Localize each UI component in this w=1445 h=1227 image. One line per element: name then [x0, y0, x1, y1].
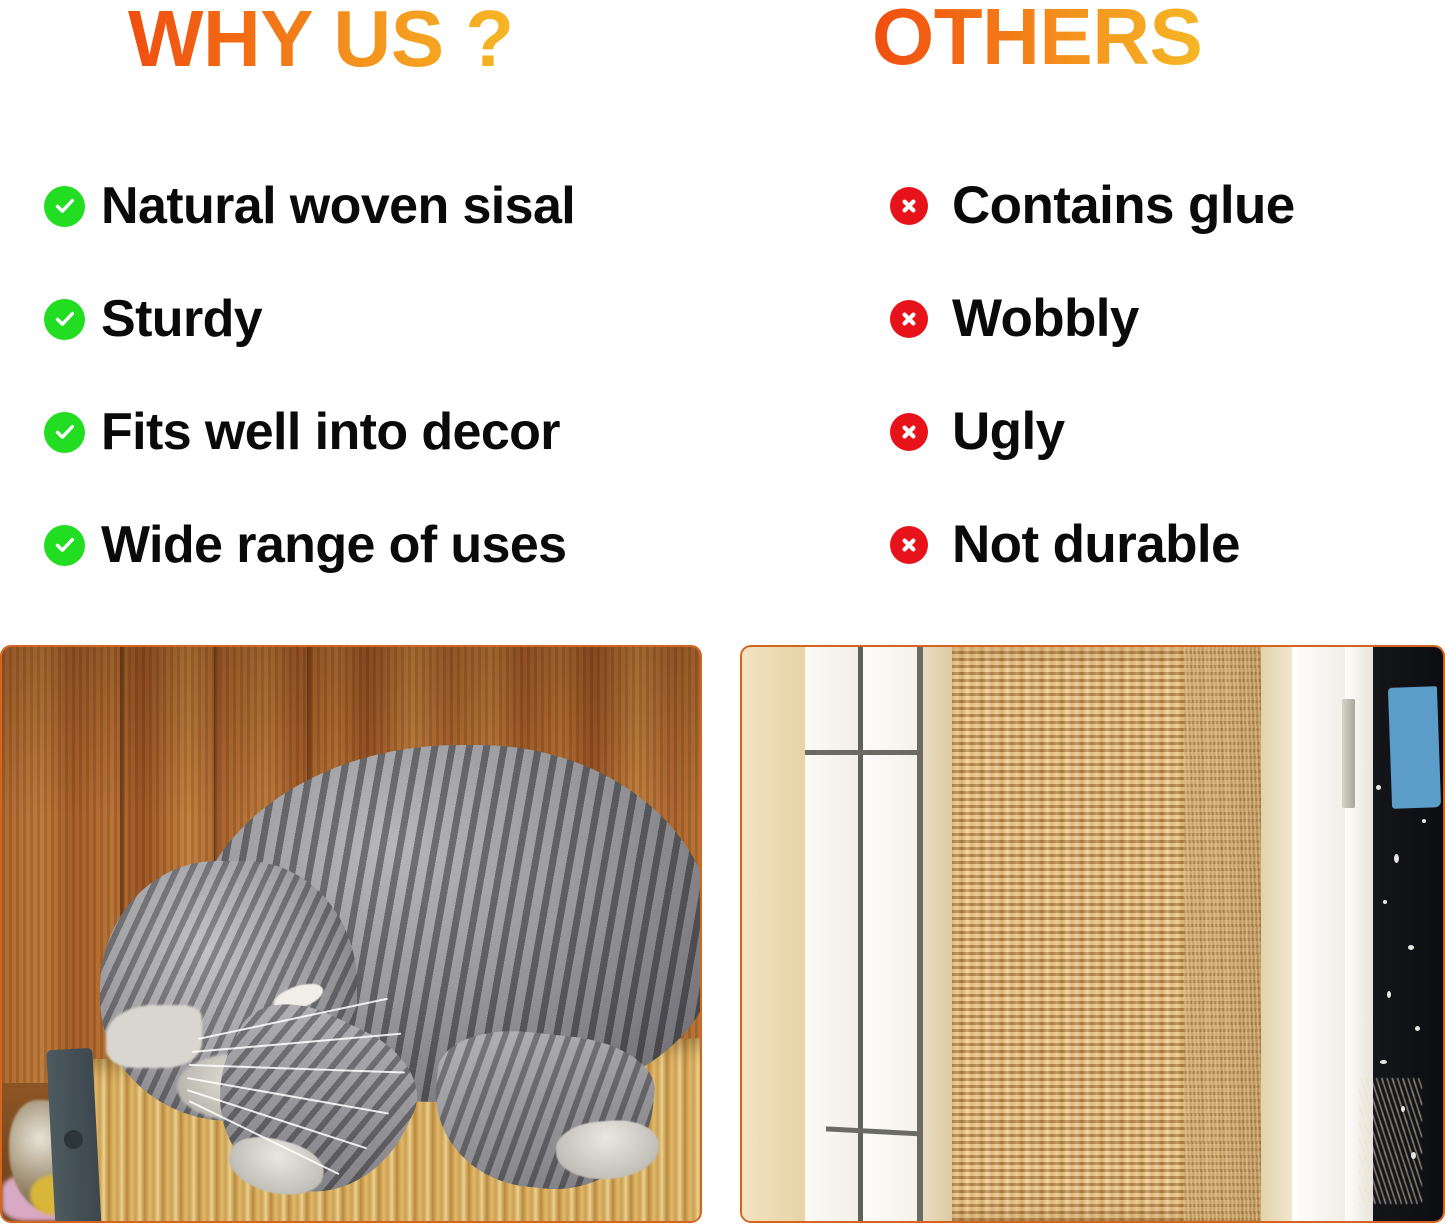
cons-item-label: Ugly [952, 404, 1064, 460]
list-item: Not durable [890, 509, 1410, 581]
list-item: Wide range of uses [44, 509, 724, 581]
list-item: Ugly [890, 396, 1410, 468]
photo-frayed-sisal-on-door [740, 645, 1445, 1223]
check-circle-icon [44, 299, 85, 340]
cross-circle-icon [890, 413, 928, 451]
photo-cat-on-sisal-mat [0, 645, 702, 1223]
grey-cat [100, 716, 700, 1198]
cons-item-label: Contains glue [952, 178, 1295, 234]
pros-item-label: Fits well into decor [101, 405, 560, 460]
cross-circle-icon [890, 526, 928, 564]
page-title-others: OTHERS [872, 0, 1202, 77]
pros-list: Natural woven sisal Sturdy Fits well int… [44, 170, 724, 622]
pros-item-label: Sturdy [101, 292, 262, 347]
cat-whiskers [138, 1034, 408, 1140]
blue-tape-patch [1388, 686, 1441, 808]
list-item: Natural woven sisal [44, 170, 724, 242]
cons-list: Contains glue Wobbly Ugly [890, 170, 1410, 622]
cross-circle-icon [890, 300, 928, 338]
check-circle-icon [44, 412, 85, 453]
page-title-why-us: WHY US ? [128, 0, 514, 79]
door-hinge [1342, 699, 1355, 808]
cons-item-label: Not durable [952, 517, 1240, 573]
mat-frame-edge [46, 1048, 102, 1221]
pros-item-label: Wide range of uses [101, 518, 567, 573]
check-circle-icon [44, 525, 85, 566]
list-item: Contains glue [890, 170, 1410, 242]
cons-item-label: Wobbly [952, 291, 1139, 347]
pros-item-label: Natural woven sisal [101, 179, 575, 234]
list-item: Fits well into decor [44, 396, 724, 468]
cross-circle-icon [890, 187, 928, 225]
comparison-infographic: WHY US ? OTHERS Natural woven sisal Stur… [0, 0, 1445, 1227]
list-item: Sturdy [44, 283, 724, 355]
check-circle-icon [44, 186, 85, 227]
list-item: Wobbly [890, 283, 1410, 355]
